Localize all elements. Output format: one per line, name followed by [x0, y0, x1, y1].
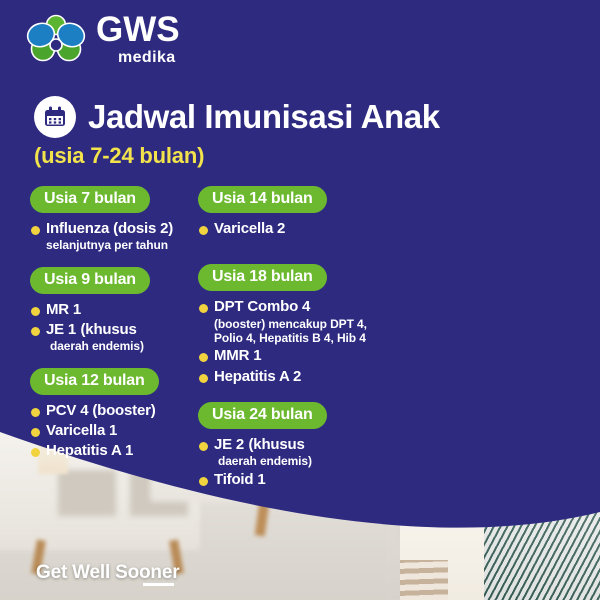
vaccine-list: MR 1 JE 1 (khusus daerah endemis) [30, 301, 205, 354]
tagline-underline [143, 583, 174, 586]
vaccine-name: DPT Combo 4 [214, 298, 310, 315]
vaccine-name: JE 2 [214, 436, 244, 453]
vaccine-note-inline: (khusus [81, 321, 137, 338]
schedule-group: Usia 24 bulan JE 2 (khusus daerah endemi… [198, 402, 398, 489]
child-striped-pants [400, 560, 448, 600]
age-badge: Usia 18 bulan [198, 264, 327, 291]
page-title-row: Jadwal Imunisasi Anak [34, 96, 440, 138]
vaccine-name: Varicella 1 [46, 422, 117, 439]
vaccine-item: Hepatitis A 1 [30, 442, 205, 460]
age-badge: Usia 14 bulan [198, 186, 327, 213]
shelf-cubby-left [58, 470, 116, 516]
brand-name: GWS [96, 12, 180, 47]
vaccine-note-line2: Polio 4, Hepatitis B 4, Hib 4 [214, 331, 398, 345]
vaccine-note: (booster) mencakup DPT 4, [214, 317, 398, 331]
footer-tagline: Get Well Sooner [36, 562, 179, 584]
vaccine-item: Varicella 2 [198, 220, 398, 238]
age-badge: Usia 9 bulan [30, 267, 150, 294]
vaccine-list: Varicella 2 [198, 220, 398, 238]
vaccine-item: JE 1 (khusus daerah endemis) [30, 321, 205, 354]
age-badge: Usia 7 bulan [30, 186, 150, 213]
schedule-group: Usia 7 bulan Influenza (dosis 2) selanju… [30, 186, 205, 253]
vaccine-list: PCV 4 (booster) Varicella 1 Hepatitis A … [30, 402, 205, 461]
vaccine-name: JE 1 [46, 321, 76, 338]
vaccine-note: daerah endemis) [214, 454, 398, 468]
vaccine-item: Influenza (dosis 2) selanjutnya per tahu… [30, 220, 205, 253]
schedule-group: Usia 12 bulan PCV 4 (booster) Varicella … [30, 368, 205, 461]
schedule-column-left: Usia 7 bulan Influenza (dosis 2) selanju… [30, 186, 205, 475]
vaccine-name: PCV 4 (booster) [46, 402, 156, 419]
vaccine-name: MMR 1 [214, 347, 261, 364]
brand-wordmark: GWS medika [96, 12, 180, 66]
vaccine-item: Tifoid 1 [198, 471, 398, 489]
vaccine-name: Tifoid 1 [214, 471, 265, 488]
vaccine-note-inline: (khusus [249, 436, 305, 453]
vaccine-item: DPT Combo 4 (booster) mencakup DPT 4, Po… [198, 298, 398, 345]
brand-subname: medika [118, 50, 180, 66]
schedule-column-right: Usia 14 bulan Varicella 2 Usia 18 bulan … [198, 186, 398, 503]
brand-logo: GWS medika [26, 12, 180, 66]
schedule-group: Usia 9 bulan MR 1 JE 1 (khusus daerah en… [30, 267, 205, 354]
vaccine-name: Hepatitis A 2 [214, 368, 301, 385]
vaccine-name: Hepatitis A 1 [46, 442, 133, 459]
gws-butterfly-logo-icon [26, 13, 86, 65]
vaccine-item: MMR 1 [198, 347, 398, 365]
age-badge: Usia 24 bulan [198, 402, 327, 429]
vaccine-item: Varicella 1 [30, 422, 205, 440]
age-badge: Usia 12 bulan [30, 368, 159, 395]
schedule-group: Usia 18 bulan DPT Combo 4 (booster) menc… [198, 264, 398, 386]
vaccine-item: MR 1 [30, 301, 205, 319]
vaccine-list: JE 2 (khusus daerah endemis) Tifoid 1 [198, 436, 398, 489]
vaccine-list: DPT Combo 4 (booster) mencakup DPT 4, Po… [198, 298, 398, 386]
vaccine-item: JE 2 (khusus daerah endemis) [198, 436, 398, 469]
vaccine-note: daerah endemis) [46, 339, 205, 353]
vaccine-note: selanjutnya per tahun [46, 238, 205, 252]
vaccine-name: MR 1 [46, 301, 81, 318]
immunization-schedule-poster: GWS medika Jadwal Imunisasi Ana [0, 0, 600, 600]
vaccine-name: Influenza (dosis 2) [46, 220, 173, 237]
vaccine-item: PCV 4 (booster) [30, 402, 205, 420]
page-subtitle: (usia 7-24 bulan) [34, 143, 204, 169]
vaccine-item: Hepatitis A 2 [198, 368, 398, 386]
calendar-icon [34, 96, 76, 138]
page-title: Jadwal Imunisasi Anak [88, 98, 440, 136]
vaccine-list: Influenza (dosis 2) selanjutnya per tahu… [30, 220, 205, 253]
calendar-glyph [42, 104, 68, 130]
schedule-group: Usia 14 bulan Varicella 2 [198, 186, 398, 238]
vaccine-name: Varicella 2 [214, 220, 285, 237]
